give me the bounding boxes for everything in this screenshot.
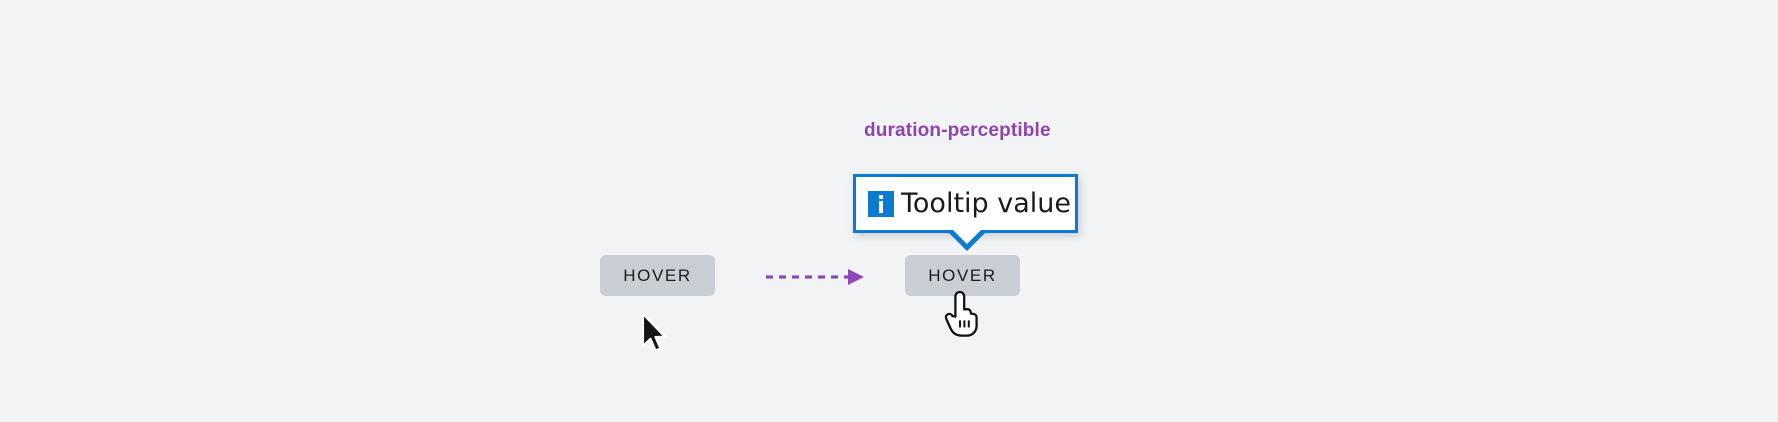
tooltip-box: Tooltip value — [853, 174, 1078, 233]
tooltip: Tooltip value — [853, 174, 1078, 233]
illustration-canvas: duration-perceptible Tooltip value HOVER… — [0, 0, 1778, 422]
arrow-cursor-icon — [640, 312, 670, 356]
tooltip-text: Tooltip value — [901, 190, 1071, 217]
pointing-hand-cursor-icon — [941, 288, 981, 340]
annotation-label: duration-perceptible — [864, 120, 1051, 142]
tooltip-pointer-fill — [952, 229, 982, 244]
hover-button-before[interactable]: HOVER — [600, 255, 715, 296]
info-icon — [868, 191, 894, 217]
transition-arrow — [764, 264, 868, 290]
